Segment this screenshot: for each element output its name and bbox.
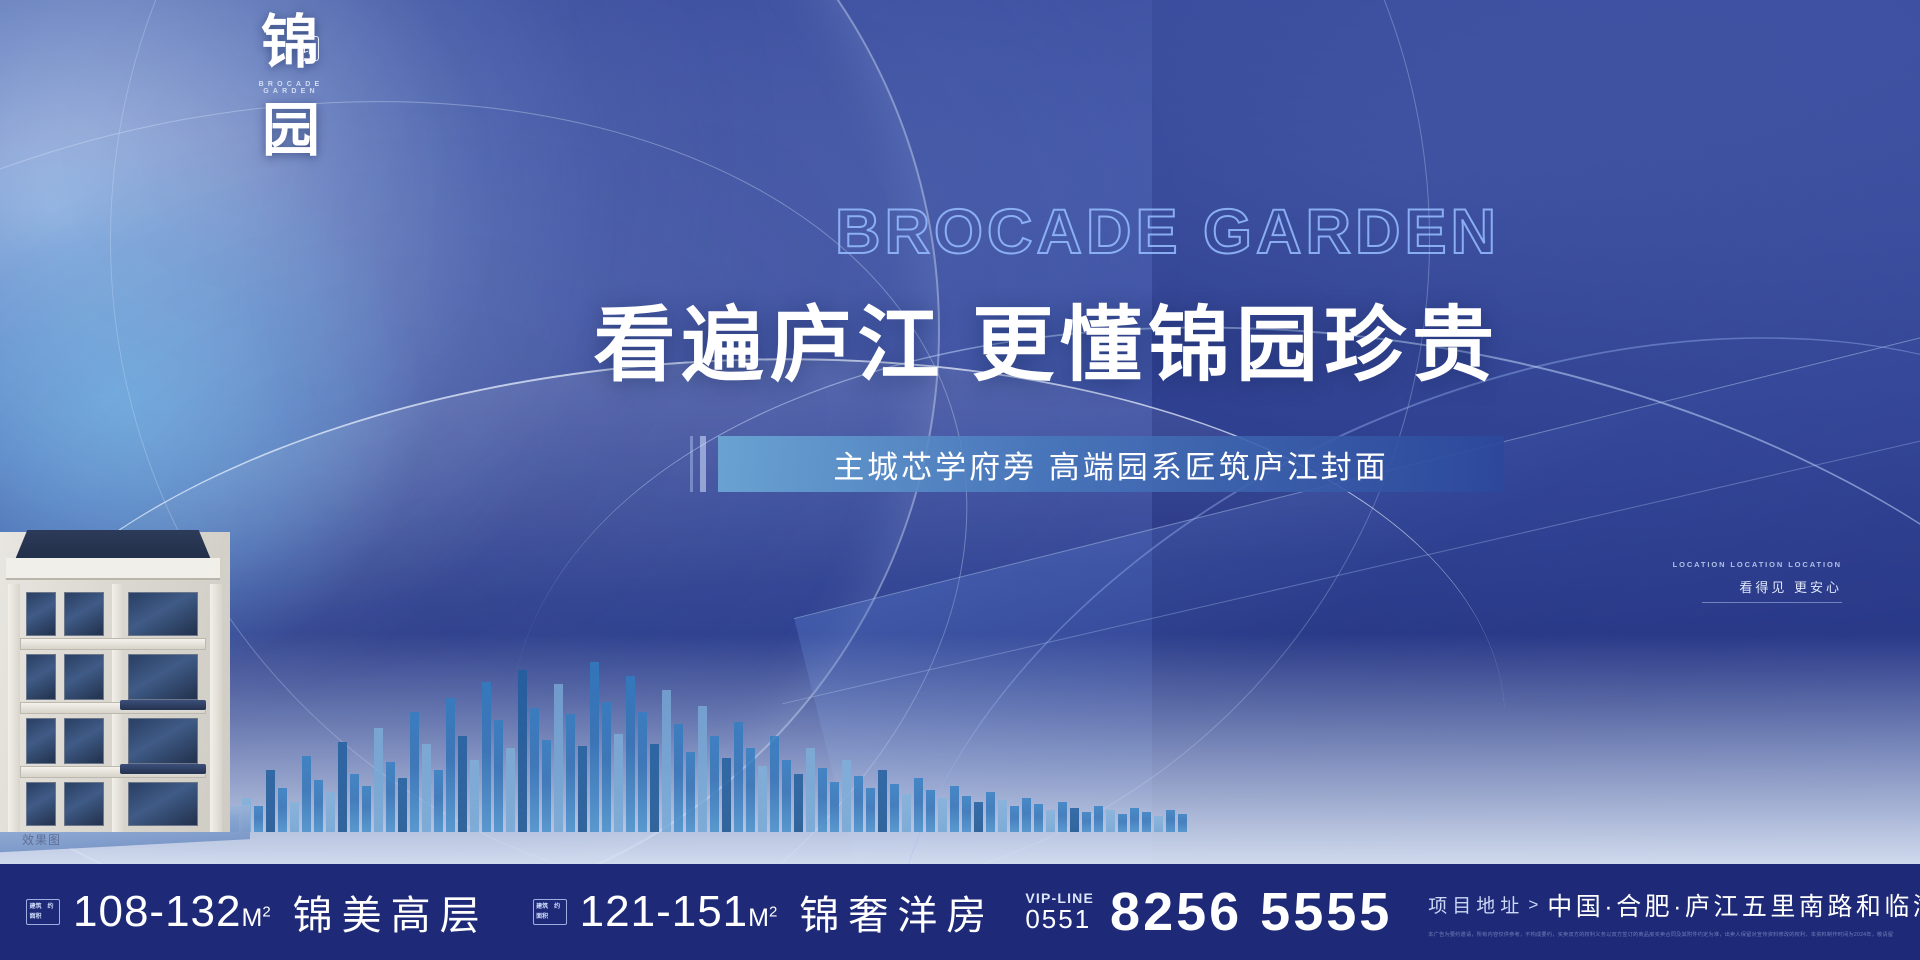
skyline-bar bbox=[1046, 810, 1055, 832]
skyline-bar bbox=[734, 722, 743, 832]
skyline-bar bbox=[446, 698, 455, 832]
skyline-bar bbox=[638, 712, 647, 832]
offer-name-2: 锦奢洋房 bbox=[799, 883, 995, 941]
skyline-bar bbox=[1106, 810, 1115, 832]
skyline-bar bbox=[614, 734, 623, 832]
skyline-bar bbox=[494, 720, 503, 832]
location-tagline-block: LOCATION LOCATION LOCATION 看得见 更安心 bbox=[1622, 560, 1842, 603]
skyline-bar bbox=[1034, 804, 1043, 832]
skyline-bar bbox=[434, 770, 443, 832]
skyline-bar bbox=[926, 790, 935, 832]
skyline-bar bbox=[722, 758, 731, 832]
offer-area-unit-2: M2 bbox=[748, 904, 777, 932]
skyline-bar bbox=[650, 744, 659, 832]
skyline-bar bbox=[830, 782, 839, 832]
skyline-bar bbox=[506, 748, 515, 832]
skyline-bar bbox=[266, 770, 275, 832]
subtitle-accent-line-2 bbox=[690, 436, 693, 492]
skyline-bar bbox=[518, 670, 527, 832]
skyline-bar bbox=[290, 802, 299, 832]
logo-char-top: 锦 bbox=[236, 14, 346, 72]
skyline-bar bbox=[1022, 798, 1031, 832]
skyline-bar bbox=[1058, 802, 1067, 832]
skyline-bar bbox=[350, 774, 359, 832]
eyebrow-english-title: BROCADE GARDEN bbox=[700, 196, 1500, 268]
skyline-bar bbox=[950, 786, 959, 832]
area-badge-line2: 面积 bbox=[29, 914, 41, 921]
offer-area-unit-1: M2 bbox=[241, 904, 270, 932]
skyline-bar bbox=[302, 756, 311, 832]
skyline-bar bbox=[626, 676, 635, 832]
skyline-bar bbox=[962, 796, 971, 832]
skyline-bar bbox=[866, 788, 875, 832]
skyline-bar bbox=[674, 724, 683, 832]
city-skyline-graphic bbox=[230, 632, 970, 832]
page-title: 看遍庐江 更懂锦园珍贵 bbox=[460, 278, 1500, 397]
skyline-bar bbox=[986, 792, 995, 832]
location-tagline-en: LOCATION LOCATION LOCATION bbox=[1622, 560, 1842, 569]
subtitle-banner: 主城芯学府旁 高端园系匠筑庐江封面 bbox=[718, 436, 1504, 492]
building-column bbox=[210, 584, 222, 832]
building-window bbox=[26, 592, 56, 636]
skyline-bar bbox=[1010, 806, 1019, 832]
building-balcony bbox=[20, 638, 206, 650]
skyline-bar bbox=[542, 740, 551, 832]
skyline-bar bbox=[902, 794, 911, 832]
chevron-right-icon: > bbox=[1528, 895, 1538, 915]
building-cornice bbox=[6, 558, 220, 580]
skyline-bar bbox=[482, 682, 491, 832]
area-badge-icon: 建筑 约 面积 bbox=[533, 899, 567, 925]
skyline-bar bbox=[458, 736, 467, 832]
skyline-bar bbox=[602, 702, 611, 832]
skyline-bar bbox=[386, 762, 395, 832]
area-badge-line1: 建筑 bbox=[536, 904, 548, 911]
offer-area-1: 108-132M2 bbox=[73, 887, 271, 937]
skyline-bar bbox=[362, 786, 371, 832]
skyline-bar bbox=[710, 736, 719, 832]
skyline-bar bbox=[530, 708, 539, 832]
building-window bbox=[64, 654, 104, 700]
brand-logo[interactable]: 锦 印 BROCADE GARDEN 园 bbox=[236, 14, 346, 164]
logo-char-bottom: 园 bbox=[236, 102, 346, 160]
skyline-bar bbox=[878, 770, 887, 832]
skyline-bar bbox=[1178, 814, 1187, 832]
skyline-bar bbox=[842, 760, 851, 832]
subtitle-accent-line-1 bbox=[700, 436, 706, 492]
offer-name-1: 锦美高层 bbox=[293, 883, 489, 941]
building-awning bbox=[120, 700, 206, 710]
skyline-bar bbox=[1166, 810, 1175, 832]
logo-seal-icon: 印 bbox=[298, 36, 319, 61]
skyline-bar bbox=[1154, 816, 1163, 832]
offer-area-range-1: 108-132 bbox=[73, 887, 241, 936]
building-facade bbox=[0, 532, 230, 832]
legal-disclaimer: 本广告为要约邀请，所有内容仅供参考，不构成要约，买卖双方的权利义务以双方签订的商… bbox=[1428, 931, 1894, 938]
vip-line-prefix: 0551 bbox=[1025, 906, 1094, 933]
skyline-bar bbox=[782, 760, 791, 832]
skyline-bar bbox=[998, 800, 1007, 832]
skyline-bar bbox=[698, 706, 707, 832]
skyline-bar bbox=[410, 712, 419, 832]
skyline-bar bbox=[326, 792, 335, 832]
building-window bbox=[26, 654, 56, 700]
area-badge-line1: 建筑 bbox=[29, 904, 41, 911]
skyline-bar bbox=[422, 744, 431, 832]
building-window bbox=[128, 654, 198, 700]
building-window bbox=[26, 782, 56, 826]
skyline-bar bbox=[662, 690, 671, 832]
address-value: 中国·合肥·庐江五里南路和临湖路交口 bbox=[1547, 887, 1920, 923]
skyline-bar bbox=[278, 788, 287, 832]
subtitle-text: 主城芯学府旁 高端园系匠筑庐江封面 bbox=[833, 442, 1389, 487]
building-window bbox=[64, 782, 104, 826]
skyline-bar bbox=[1118, 814, 1127, 832]
skyline-bar bbox=[758, 766, 767, 832]
skyline-bar bbox=[254, 806, 263, 832]
building-window bbox=[128, 592, 198, 636]
skyline-bar bbox=[746, 748, 755, 832]
offer-area-range-2: 121-151 bbox=[580, 887, 748, 936]
skyline-bar bbox=[818, 768, 827, 832]
footer-bar: 建筑 约 面积 108-132M2 锦美高层 建筑 约 面积 121-151M2… bbox=[0, 864, 1920, 960]
skyline-bar bbox=[374, 728, 383, 832]
skyline-bar bbox=[890, 784, 899, 832]
skyline-bar bbox=[554, 684, 563, 832]
building-photo bbox=[0, 512, 250, 832]
area-badge-line3: 约 bbox=[47, 904, 53, 911]
skyline-bar bbox=[590, 662, 599, 832]
skyline-bar bbox=[1094, 806, 1103, 832]
skyline-bar bbox=[1142, 812, 1151, 832]
skyline-bar bbox=[566, 714, 575, 832]
skyline-bar bbox=[1130, 808, 1139, 832]
skyline-bar bbox=[854, 776, 863, 832]
skyline-bar bbox=[794, 774, 803, 832]
building-window bbox=[128, 718, 198, 764]
area-badge-icon: 建筑 约 面积 bbox=[26, 899, 60, 925]
location-tagline-cn: 看得见 更安心 bbox=[1622, 577, 1842, 596]
building-window bbox=[26, 718, 56, 764]
skyline-bar bbox=[398, 778, 407, 832]
skyline-bar bbox=[914, 778, 923, 832]
skyline-bar bbox=[314, 780, 323, 832]
building-column bbox=[8, 584, 20, 832]
vip-line-block: VIP-LINE 0551 bbox=[1025, 891, 1094, 933]
building-window bbox=[64, 592, 104, 636]
skyline-bar bbox=[974, 802, 983, 832]
skyline-bar bbox=[470, 760, 479, 832]
poster-canvas: 锦 印 BROCADE GARDEN 园 BROCADE GARDEN 看遍庐江… bbox=[0, 0, 1920, 960]
skyline-bar bbox=[770, 736, 779, 832]
address-label: 项目地址 bbox=[1428, 891, 1524, 918]
skyline-bar bbox=[578, 746, 587, 832]
logo-subtitle-en: BROCADE GARDEN bbox=[236, 81, 346, 95]
building-awning bbox=[120, 764, 206, 774]
render-note-label: 效果图 bbox=[22, 831, 61, 848]
skyline-bar bbox=[686, 752, 695, 832]
offer-area-2: 121-151M2 bbox=[580, 887, 778, 937]
building-window bbox=[128, 782, 198, 826]
area-badge-line2: 面积 bbox=[536, 914, 548, 921]
skyline-bar bbox=[1070, 808, 1079, 832]
skyline-bar bbox=[806, 748, 815, 832]
skyline-bar bbox=[338, 742, 347, 832]
address-block: 项目地址 > 中国·合肥·庐江五里南路和临湖路交口 本广告为要约邀请，所有内容仅… bbox=[1428, 887, 1894, 938]
building-window bbox=[64, 718, 104, 764]
location-divider bbox=[1702, 602, 1842, 603]
area-badge-line3: 约 bbox=[554, 904, 560, 911]
skyline-bar bbox=[938, 798, 947, 832]
skyline-bar bbox=[1082, 812, 1091, 832]
phone-number[interactable]: 8256 5555 bbox=[1110, 881, 1392, 943]
